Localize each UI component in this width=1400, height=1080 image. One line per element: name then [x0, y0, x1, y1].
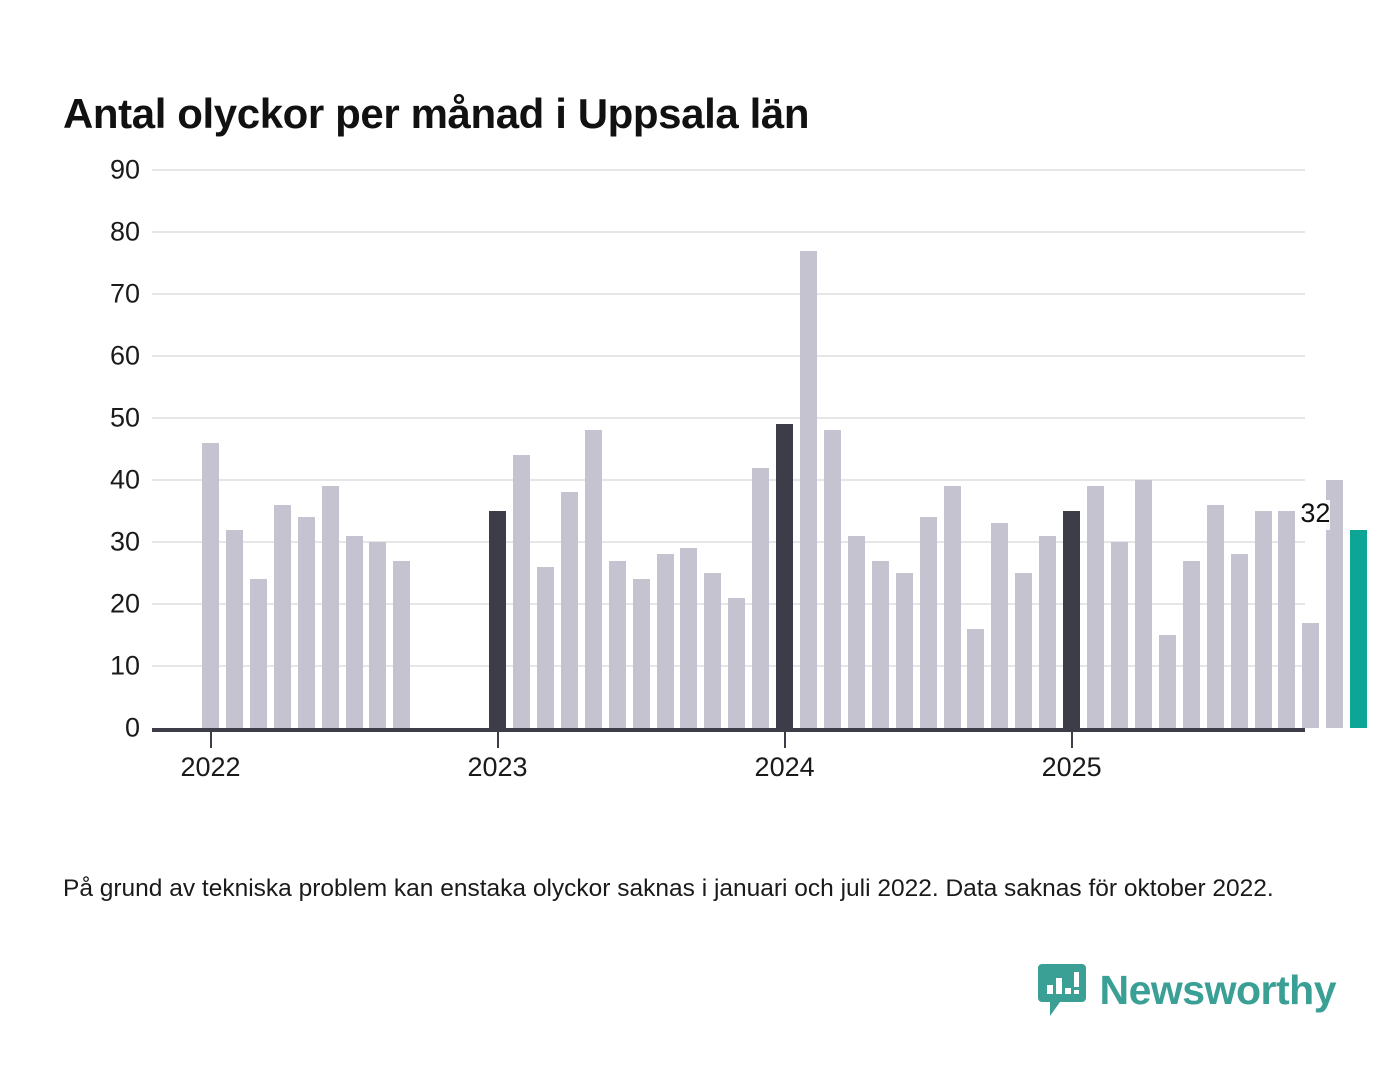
brand-name: Newsworthy [1100, 970, 1337, 1011]
x-tick-label: 2025 [1042, 752, 1102, 783]
bar[interactable] [1039, 536, 1056, 728]
bar-chart-speech-bubble-icon [1038, 964, 1086, 1016]
chart-caption: På grund av tekniska problem kan enstaka… [63, 873, 1293, 905]
bar[interactable] [680, 548, 697, 728]
bar[interactable] [1063, 511, 1080, 728]
bar[interactable] [250, 579, 267, 728]
newsworthy-logo: Newsworthy [1038, 962, 1337, 1018]
y-tick-label: 70 [110, 281, 140, 308]
bar[interactable] [609, 561, 626, 728]
chart-bars: 32 [152, 170, 1305, 728]
y-tick-label: 10 [110, 653, 140, 680]
bar[interactable] [991, 523, 1008, 728]
bar[interactable] [848, 536, 865, 728]
bar[interactable] [800, 251, 817, 728]
y-tick-label: 40 [110, 467, 140, 494]
y-tick-label: 90 [110, 157, 140, 184]
bar[interactable] [776, 424, 793, 728]
bar[interactable] [633, 579, 650, 728]
y-tick-label: 80 [110, 219, 140, 246]
x-tick [1071, 728, 1073, 748]
bar[interactable] [944, 486, 961, 728]
bar[interactable] [561, 492, 578, 728]
bar[interactable] [513, 455, 530, 728]
x-tick-label: 2023 [468, 752, 528, 783]
bar[interactable] [298, 517, 315, 728]
x-tick [210, 728, 212, 748]
bar[interactable] [489, 511, 506, 728]
bar[interactable] [728, 598, 745, 728]
bar[interactable] [369, 542, 386, 728]
bar[interactable] [274, 505, 291, 728]
y-tick-label: 60 [110, 343, 140, 370]
bar[interactable] [1159, 635, 1176, 728]
bar[interactable] [346, 536, 363, 728]
bar[interactable] [393, 561, 410, 728]
bar[interactable] [1135, 480, 1152, 728]
x-tick [784, 728, 786, 748]
bar[interactable] [704, 573, 721, 728]
bar[interactable] [752, 468, 769, 728]
bar[interactable] [967, 629, 984, 728]
x-tick-label: 2024 [755, 752, 815, 783]
bar-value-label: 32 [1300, 500, 1330, 530]
bar[interactable] [657, 554, 674, 728]
bar[interactable] [1350, 530, 1367, 728]
bar[interactable] [202, 443, 219, 728]
y-tick-label: 20 [110, 591, 140, 618]
bar[interactable] [226, 530, 243, 728]
bar[interactable] [920, 517, 937, 728]
y-tick-label: 30 [110, 529, 140, 556]
x-tick-label: 2022 [180, 752, 240, 783]
x-tick [497, 728, 499, 748]
bar[interactable] [896, 573, 913, 728]
bar[interactable] [1111, 542, 1128, 728]
bar[interactable] [1231, 554, 1248, 728]
bar[interactable] [537, 567, 554, 728]
bar[interactable] [824, 430, 841, 728]
bar[interactable] [1183, 561, 1200, 728]
chart-plot-area: 0102030405060708090 32 2022202320242025 [0, 0, 1400, 800]
bar[interactable] [322, 486, 339, 728]
y-axis: 0102030405060708090 [78, 170, 140, 730]
x-axis: 2022202320242025 [152, 728, 1305, 798]
bar[interactable] [585, 430, 602, 728]
bar[interactable] [1087, 486, 1104, 728]
y-tick-label: 50 [110, 405, 140, 432]
bar[interactable] [872, 561, 889, 728]
y-tick-label: 0 [125, 715, 140, 742]
bar[interactable] [1255, 511, 1272, 728]
bar[interactable] [1302, 623, 1319, 728]
bar[interactable] [1207, 505, 1224, 728]
bar[interactable] [1278, 511, 1295, 728]
bar[interactable] [1015, 573, 1032, 728]
